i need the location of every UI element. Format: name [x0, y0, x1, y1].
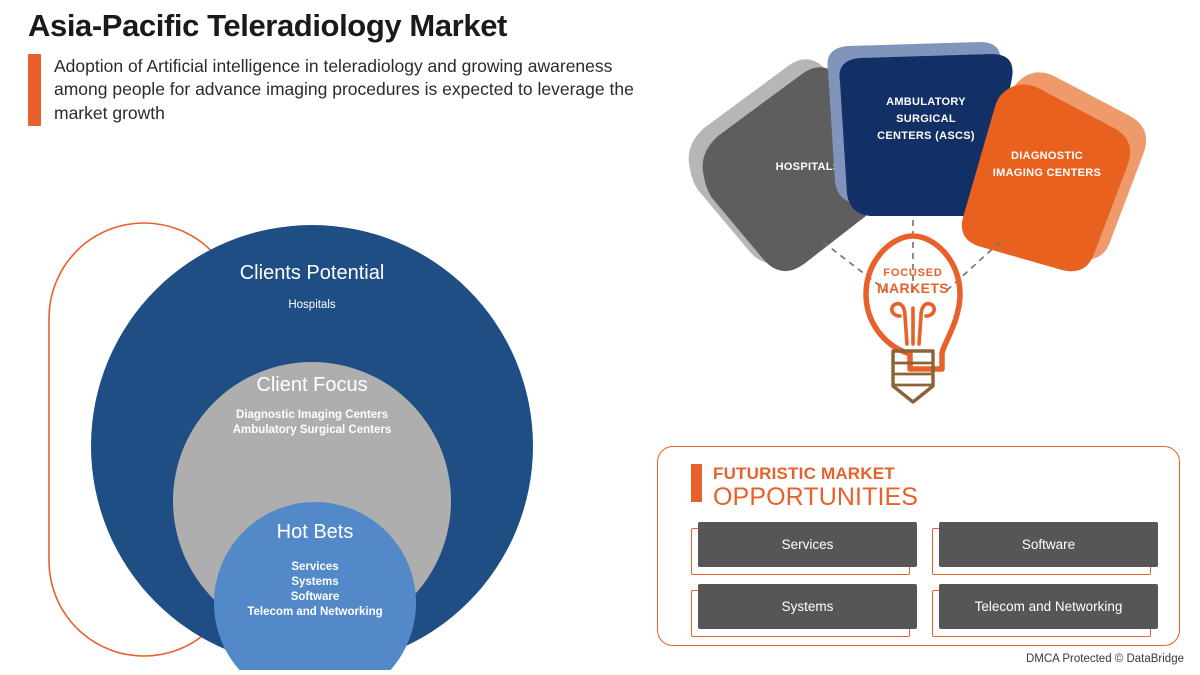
opportunity-card[interactable]: Telecom and Networking [932, 584, 1151, 631]
accent-bar [28, 54, 41, 126]
ambulatory-label-line-2: CENTERS (ASCS) [877, 130, 975, 142]
page-subtitle: Adoption of Artificial intelligence in t… [54, 54, 654, 126]
inner-circle-title: Hot Bets [277, 521, 354, 543]
panel-heading-line-1: FUTURISTIC MARKET [713, 465, 918, 483]
inner-circle-item-3: Telecom and Networking [247, 606, 382, 618]
lightbulb-base-icon [893, 351, 933, 402]
inner-circle-item-2: Software [291, 591, 340, 603]
ambulatory-label-line-0: AMBULATORY [886, 96, 966, 108]
panel-heading-line-2: OPPORTUNITIES [713, 484, 918, 510]
opportunity-card[interactable]: Software [932, 522, 1151, 569]
page-title: Asia-Pacific Teleradiology Market [28, 8, 668, 45]
focused-markets-diagram: HOSPITALS AMBULATORY SURGICAL CENTERS (A… [660, 24, 1170, 419]
lightbulb-filament-icon [892, 304, 934, 344]
opportunity-cards-grid: Services Software Systems Telecom and Ne… [658, 510, 1179, 631]
bulb-label-line-0: FOCUSED [883, 267, 942, 279]
concentric-circles-diagram: Clients Potential Hospitals Client Focus… [30, 200, 590, 670]
subtitle-row: Adoption of Artificial intelligence in t… [28, 54, 668, 126]
opportunity-card[interactable]: Services [691, 522, 910, 569]
middle-circle-item-0: Diagnostic Imaging Centers [236, 409, 388, 421]
diagnostic-label-line-0: DIAGNOSTIC [1011, 150, 1083, 162]
inner-circle-item-0: Services [291, 561, 338, 573]
card-label: Systems [698, 584, 917, 629]
card-label: Services [698, 522, 917, 567]
card-label: Software [939, 522, 1158, 567]
inner-circle-item-1: Systems [291, 576, 338, 588]
infographic-canvas: Asia-Pacific Teleradiology Market Adopti… [0, 0, 1200, 675]
outer-circle-item-0: Hospitals [288, 299, 336, 311]
panel-heading: FUTURISTIC MARKET OPPORTUNITIES [713, 464, 918, 510]
card-label: Telecom and Networking [939, 584, 1158, 629]
header: Asia-Pacific Teleradiology Market Adopti… [28, 8, 668, 126]
panel-accent-bar [691, 464, 702, 502]
panel-header: FUTURISTIC MARKET OPPORTUNITIES [658, 447, 1179, 510]
outer-circle-title: Clients Potential [240, 262, 385, 284]
bulb-label-line-1: MARKETS [877, 280, 949, 296]
dmca-footer: DMCA Protected © DataBridge [1026, 653, 1184, 665]
diagnostic-label-line-1: IMAGING CENTERS [993, 167, 1101, 179]
opportunity-card[interactable]: Systems [691, 584, 910, 631]
middle-circle-title: Client Focus [256, 374, 367, 396]
ambulatory-label-line-1: SURGICAL [896, 113, 956, 125]
futuristic-opportunities-panel: FUTURISTIC MARKET OPPORTUNITIES Services… [657, 446, 1180, 646]
hospitals-label: HOSPITALS [776, 161, 841, 173]
middle-circle-item-1: Ambulatory Surgical Centers [233, 424, 391, 436]
